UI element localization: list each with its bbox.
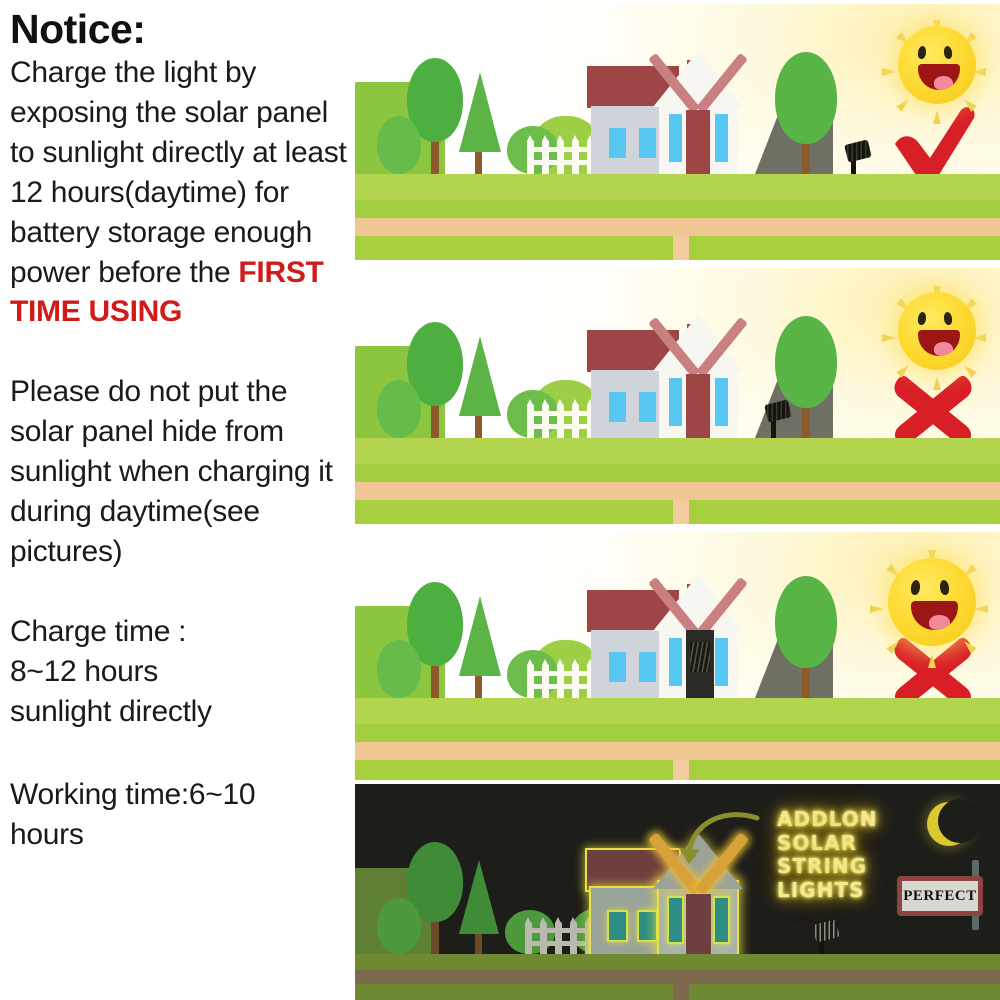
page-title: Notice: [10,8,351,51]
scene-correct-daylight [355,4,1000,262]
house-window [609,128,626,158]
fence-rail [525,928,593,933]
fence-picket [527,664,534,698]
house [587,312,767,438]
night-dirt-path [355,970,1000,984]
sun-tongue [934,76,953,90]
fence-picket [557,140,564,174]
charge-time-value: 8~12 hours [10,652,351,692]
night-pine-foliage [459,857,499,934]
solar-panel-plate [812,919,840,942]
solar-panel-indoor [690,642,710,672]
fence-picket [527,140,534,174]
sun-ray [974,605,988,613]
moon-icon [927,802,971,846]
solar-panel-plate [690,642,710,672]
sun-tongue [934,342,953,356]
dirt-path-vertical [673,760,689,780]
sun-tongue [929,615,951,630]
fence-rail [527,671,595,676]
night-house-window [639,912,656,940]
solar-panel-plate [764,399,792,422]
fence-picket [572,664,579,698]
sun-ray [896,96,912,112]
brand-line-1: ADDLON [777,808,907,832]
night-house-front-window [715,898,728,942]
scene-wrong-shade [355,268,1000,526]
sun-ray [933,376,941,390]
sun-mouth [918,64,960,90]
solar-panel-plate [844,139,872,162]
house-door [686,110,710,174]
house-door [686,374,710,438]
house-window [609,392,626,422]
charge-time-note: sunlight directly [10,692,351,732]
fence-picket [542,404,549,438]
fence-picket [557,664,564,698]
fence-picket [557,404,564,438]
sun-ray [886,638,902,654]
solar-panel-unit [842,138,870,174]
dirt-path [355,482,1000,500]
night-house-window [609,912,626,940]
house [587,572,767,698]
brand-line-2: SOLAR [777,832,907,856]
fence-rail [527,160,595,165]
night-house-front-window [669,898,682,942]
house-window [639,128,656,158]
dirt-path-vertical [673,236,689,260]
house-front-window [669,638,682,686]
house-window [639,392,656,422]
sun-ray [961,638,977,654]
working-time-line2: hours [10,815,351,855]
sun-icon [866,536,998,668]
fence-rail [527,424,595,429]
pine-foliage [459,333,501,416]
house-front-window [669,378,682,426]
fence-picket [527,404,534,438]
fence-picket [542,140,549,174]
sun-ray [928,654,936,668]
night-house-door [686,894,711,956]
pine-foliage [459,69,501,152]
pointer-arrow-icon [675,804,765,866]
house-window [639,652,656,682]
tree-foliage-right [775,576,837,668]
sun-ray [961,96,977,112]
notice-paragraph-1-text: Charge the light by exposing the solar p… [10,56,346,288]
sun-eye-left [910,579,921,595]
grass-mid [355,698,1000,724]
brand-line-4: LIGHTS [777,879,907,903]
scene-night-result: ADDLON SOLAR STRING LIGHTS PERFECT [355,784,1000,1000]
fence-picket [572,140,579,174]
house-front-window [715,638,728,686]
fence-picket [570,922,577,954]
sun-disc [888,558,976,646]
brand-line-3: STRING [777,855,907,879]
sun-ray [961,362,977,378]
notice-text-column: Notice: Charge the light by exposing the… [0,0,355,1000]
grass-mid [355,174,1000,200]
tree-foliage-small [377,380,421,438]
house-front-window [715,378,728,426]
sun-ray [882,334,896,342]
dirt-path [355,742,1000,760]
sun-disc [898,26,976,104]
sun-ray [870,605,884,613]
sun-eye-right [943,312,953,326]
perfect-sign-label: PERFECT [903,888,977,905]
sun-ray [882,68,896,76]
sun-icon [878,6,996,124]
sun-eye-left [917,46,927,60]
working-time-block: Working time:6~10 hours [10,775,351,855]
sun-disc [898,292,976,370]
sun-icon [878,272,996,390]
sun-mouth [911,601,958,630]
night-tree-foliage-small [377,898,421,954]
sun-ray [933,110,941,124]
fence-picket [555,922,562,954]
tree-foliage-right [775,316,837,408]
fence-rail [527,147,595,152]
house-front-window [669,114,682,162]
dirt-path [355,218,1000,236]
sun-eye-right [943,46,953,60]
brand-neon-text: ADDLON SOLAR STRING LIGHTS [777,808,907,902]
fence-picket [525,922,532,954]
fence-picket [540,922,547,954]
fence-rail [525,941,593,946]
tree-foliage-small [377,116,421,174]
perfect-sign: PERFECT [897,876,983,916]
tree-foliage-small [377,640,421,698]
night-solar-panel-unit [810,916,838,956]
night-dirt-path-vertical [673,984,689,1000]
charge-time-label: Charge time : [10,612,351,652]
charge-time-block: Charge time : 8~12 hours sunlight direct… [10,612,351,732]
notice-infographic: Notice: Charge the light by exposing the… [0,0,1000,1000]
working-time-line1: Working time:6~10 [10,775,351,815]
sun-ray [896,362,912,378]
fence-picket [572,404,579,438]
illustration-column: ADDLON SOLAR STRING LIGHTS PERFECT [355,0,1000,1000]
notice-paragraph-2: Please do not put the solar panel hide f… [10,372,351,571]
fence-rail [527,684,595,689]
house-front-window [715,114,728,162]
sun-eye-left [917,312,927,326]
dirt-path-vertical [673,500,689,524]
solar-panel-unit [762,398,790,438]
notice-paragraph-1: Charge the light by exposing the solar p… [10,53,351,332]
sun-eye-right [939,579,950,595]
house-window [609,652,626,682]
grass-mid [355,438,1000,464]
fence-rail [527,411,595,416]
scene-wrong-indoor [355,532,1000,780]
pine-foliage [459,593,501,676]
tree-foliage-right [775,52,837,144]
sun-mouth [918,330,960,356]
fence-picket [542,664,549,698]
house [587,48,767,174]
